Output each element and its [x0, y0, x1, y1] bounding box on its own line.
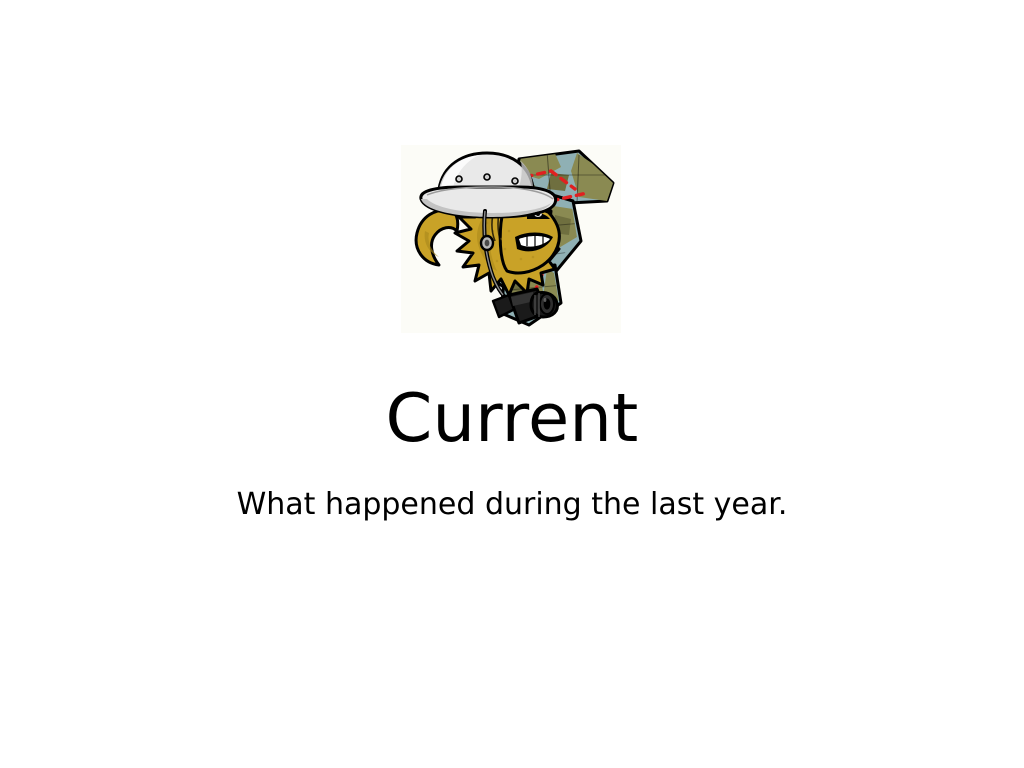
puffy-traveler-illustration	[401, 145, 621, 333]
puffy-traveler-graphic	[401, 145, 621, 333]
page-subtitle: What happened during the last year.	[0, 487, 1024, 523]
page-title: Current	[0, 383, 1024, 453]
slide: Current What happened during the last ye…	[0, 0, 1024, 768]
